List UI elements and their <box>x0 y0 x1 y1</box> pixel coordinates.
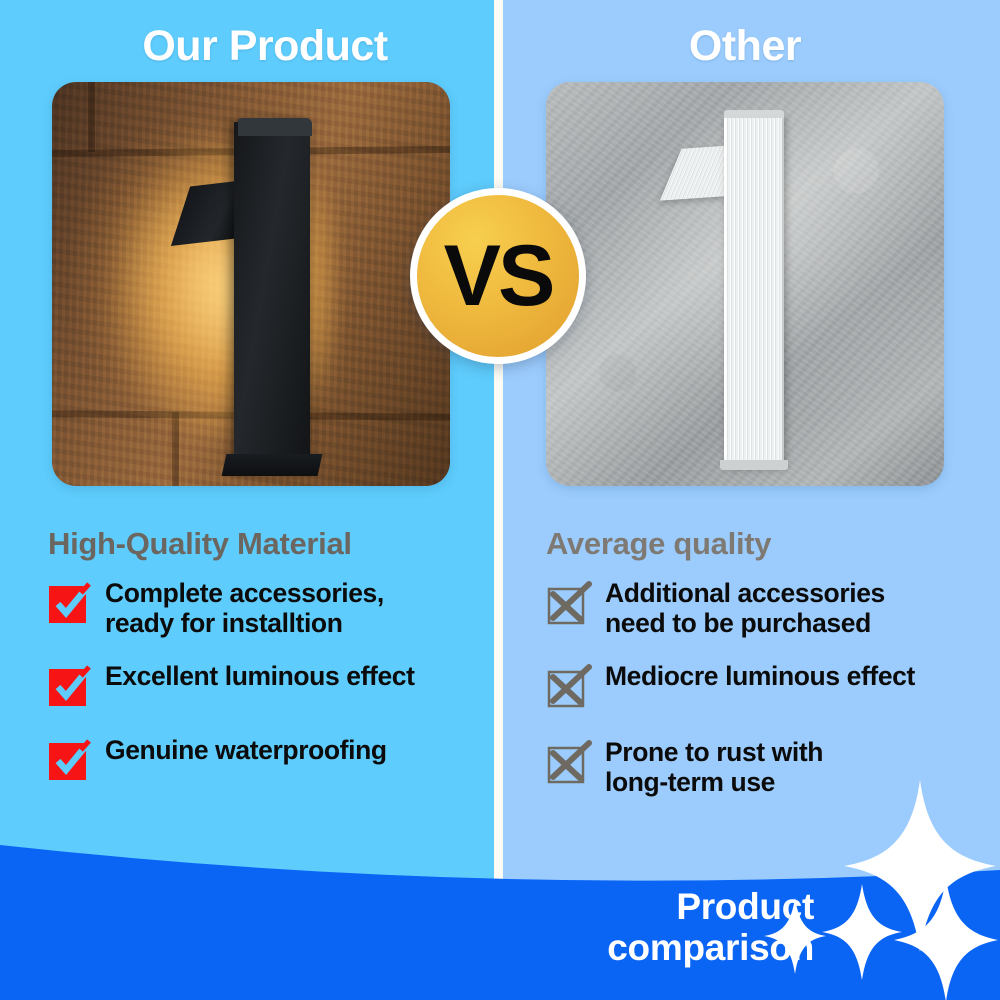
list-item: Excellent luminous effect <box>48 661 478 712</box>
list-item-label: Mediocre luminous effect <box>605 661 915 691</box>
black-numeral-top-edge <box>238 118 312 136</box>
cross-icon <box>546 580 592 631</box>
check-icon <box>48 580 92 629</box>
banner-title: Product comparison <box>607 886 814 968</box>
other-title: Other <box>540 20 950 72</box>
list-item: Genuine waterproofing <box>48 735 478 786</box>
list-item-label: Excellent luminous effect <box>105 661 415 691</box>
steel-numeral-base <box>720 460 788 470</box>
cross-icon <box>546 739 592 790</box>
steel-numeral-top-edge <box>724 110 784 118</box>
black-numeral-base <box>222 454 323 476</box>
our-product-feature-list: High-Quality Material Complete accessori… <box>48 524 478 809</box>
mortar-line <box>88 82 95 152</box>
our-product-title: Our Product <box>60 20 470 72</box>
steel-numeral-stem <box>724 114 784 466</box>
list-item: Complete accessories, ready for installt… <box>48 578 478 638</box>
black-numeral-stem <box>234 122 310 472</box>
column-divider <box>494 0 503 905</box>
list-item: Prone to rust with long-term use <box>546 737 976 797</box>
check-icon <box>48 663 92 712</box>
list-item-label: Additional accessories need to be purcha… <box>605 578 885 638</box>
list-item: Additional accessories need to be purcha… <box>546 578 976 638</box>
other-product-feature-heading: Average quality <box>546 524 976 564</box>
cross-icon <box>546 663 592 714</box>
bottom-banner: Product comparison <box>0 825 1000 1000</box>
banner-curve-shape <box>0 825 1000 1000</box>
list-item-label: Complete accessories, ready for installt… <box>105 578 384 638</box>
check-icon <box>48 737 92 786</box>
our-product-feature-heading: High-Quality Material <box>48 524 478 564</box>
other-product-feature-list: Average quality Additional accessories n… <box>546 524 976 820</box>
list-item-label: Prone to rust with long-term use <box>605 737 823 797</box>
list-item-label: Genuine waterproofing <box>105 735 387 765</box>
other-product-image-card[interactable] <box>546 82 944 486</box>
vs-badge-label: VS <box>444 233 553 319</box>
vs-badge: VS <box>410 188 586 364</box>
our-product-image-card[interactable] <box>52 82 450 486</box>
list-item: Mediocre luminous effect <box>546 661 976 714</box>
